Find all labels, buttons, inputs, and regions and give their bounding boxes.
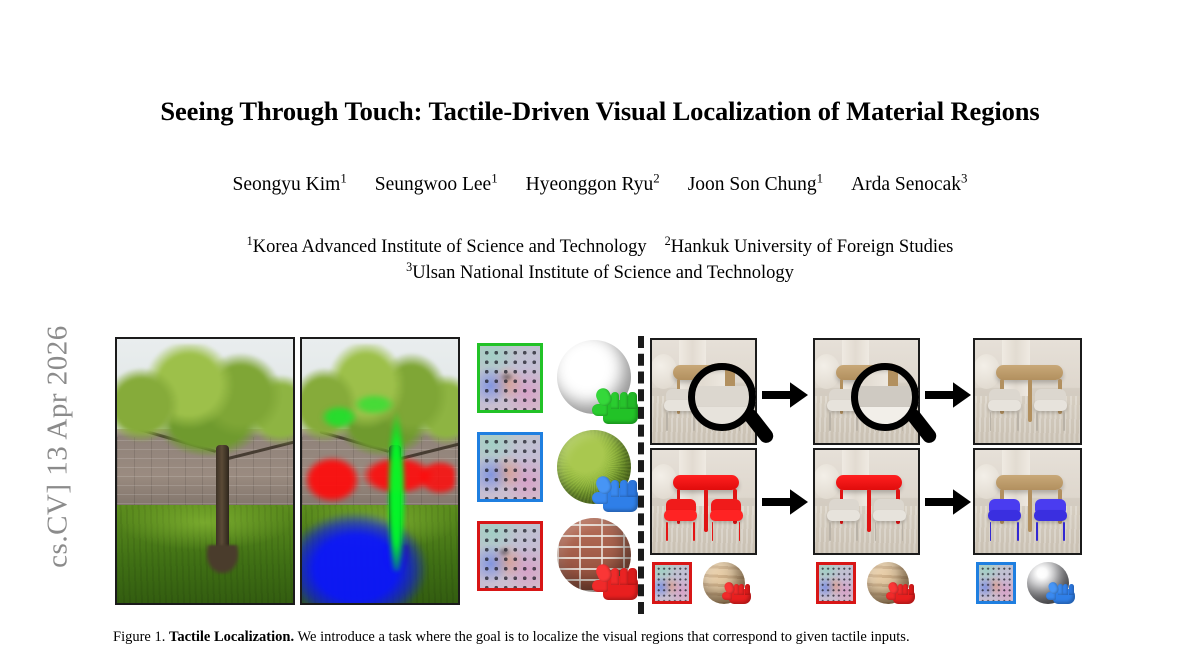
flow-arrow-3 bbox=[925, 382, 971, 408]
touch-hand-red-icon bbox=[592, 562, 640, 602]
caption-text: We introduce a task where the goal is to… bbox=[297, 629, 909, 645]
output-image-tree-localization bbox=[300, 337, 460, 605]
scene-panel-red-overlay-1 bbox=[650, 448, 757, 555]
tactile-patch-metal bbox=[976, 562, 1016, 604]
flow-arrow-2 bbox=[762, 489, 808, 515]
scene-panel-result-plain bbox=[973, 338, 1082, 445]
tactile-patch-bark bbox=[477, 343, 543, 413]
figure-caption: Figure 1. Tactile Localization. We intro… bbox=[113, 628, 1088, 647]
magnifier-icon-1 bbox=[688, 363, 756, 431]
caption-label: Figure 1. bbox=[113, 629, 165, 645]
flow-arrow-1 bbox=[762, 382, 808, 408]
tactile-patch-brick bbox=[477, 521, 543, 591]
overlay-region-grass bbox=[302, 503, 439, 603]
overlay-region-brick-wall bbox=[305, 450, 455, 503]
magnifier-icon-2 bbox=[851, 363, 919, 431]
touch-hand-red-icon-2 bbox=[886, 580, 916, 606]
figure-1: Figure 1. Tactile Localization. We intro… bbox=[0, 0, 1200, 648]
overlay-region-trunk bbox=[383, 371, 410, 572]
tactile-patch-moss bbox=[477, 432, 543, 502]
touch-hand-green-icon bbox=[592, 386, 640, 426]
scene-panel-blue-overlay-chairs bbox=[973, 448, 1082, 555]
section-divider bbox=[638, 336, 644, 614]
flow-arrow-4 bbox=[925, 489, 971, 515]
input-image-tree bbox=[115, 337, 295, 605]
caption-bold: Tactile Localization. bbox=[169, 629, 294, 645]
touch-hand-red-icon-1 bbox=[722, 580, 752, 606]
tactile-patch-wood-1 bbox=[652, 562, 692, 604]
scene-panel-red-overlay-table bbox=[813, 448, 920, 555]
touch-hand-blue-icon-2 bbox=[1046, 580, 1076, 606]
tactile-patch-wood-2 bbox=[816, 562, 856, 604]
touch-hand-blue-icon bbox=[592, 474, 640, 514]
